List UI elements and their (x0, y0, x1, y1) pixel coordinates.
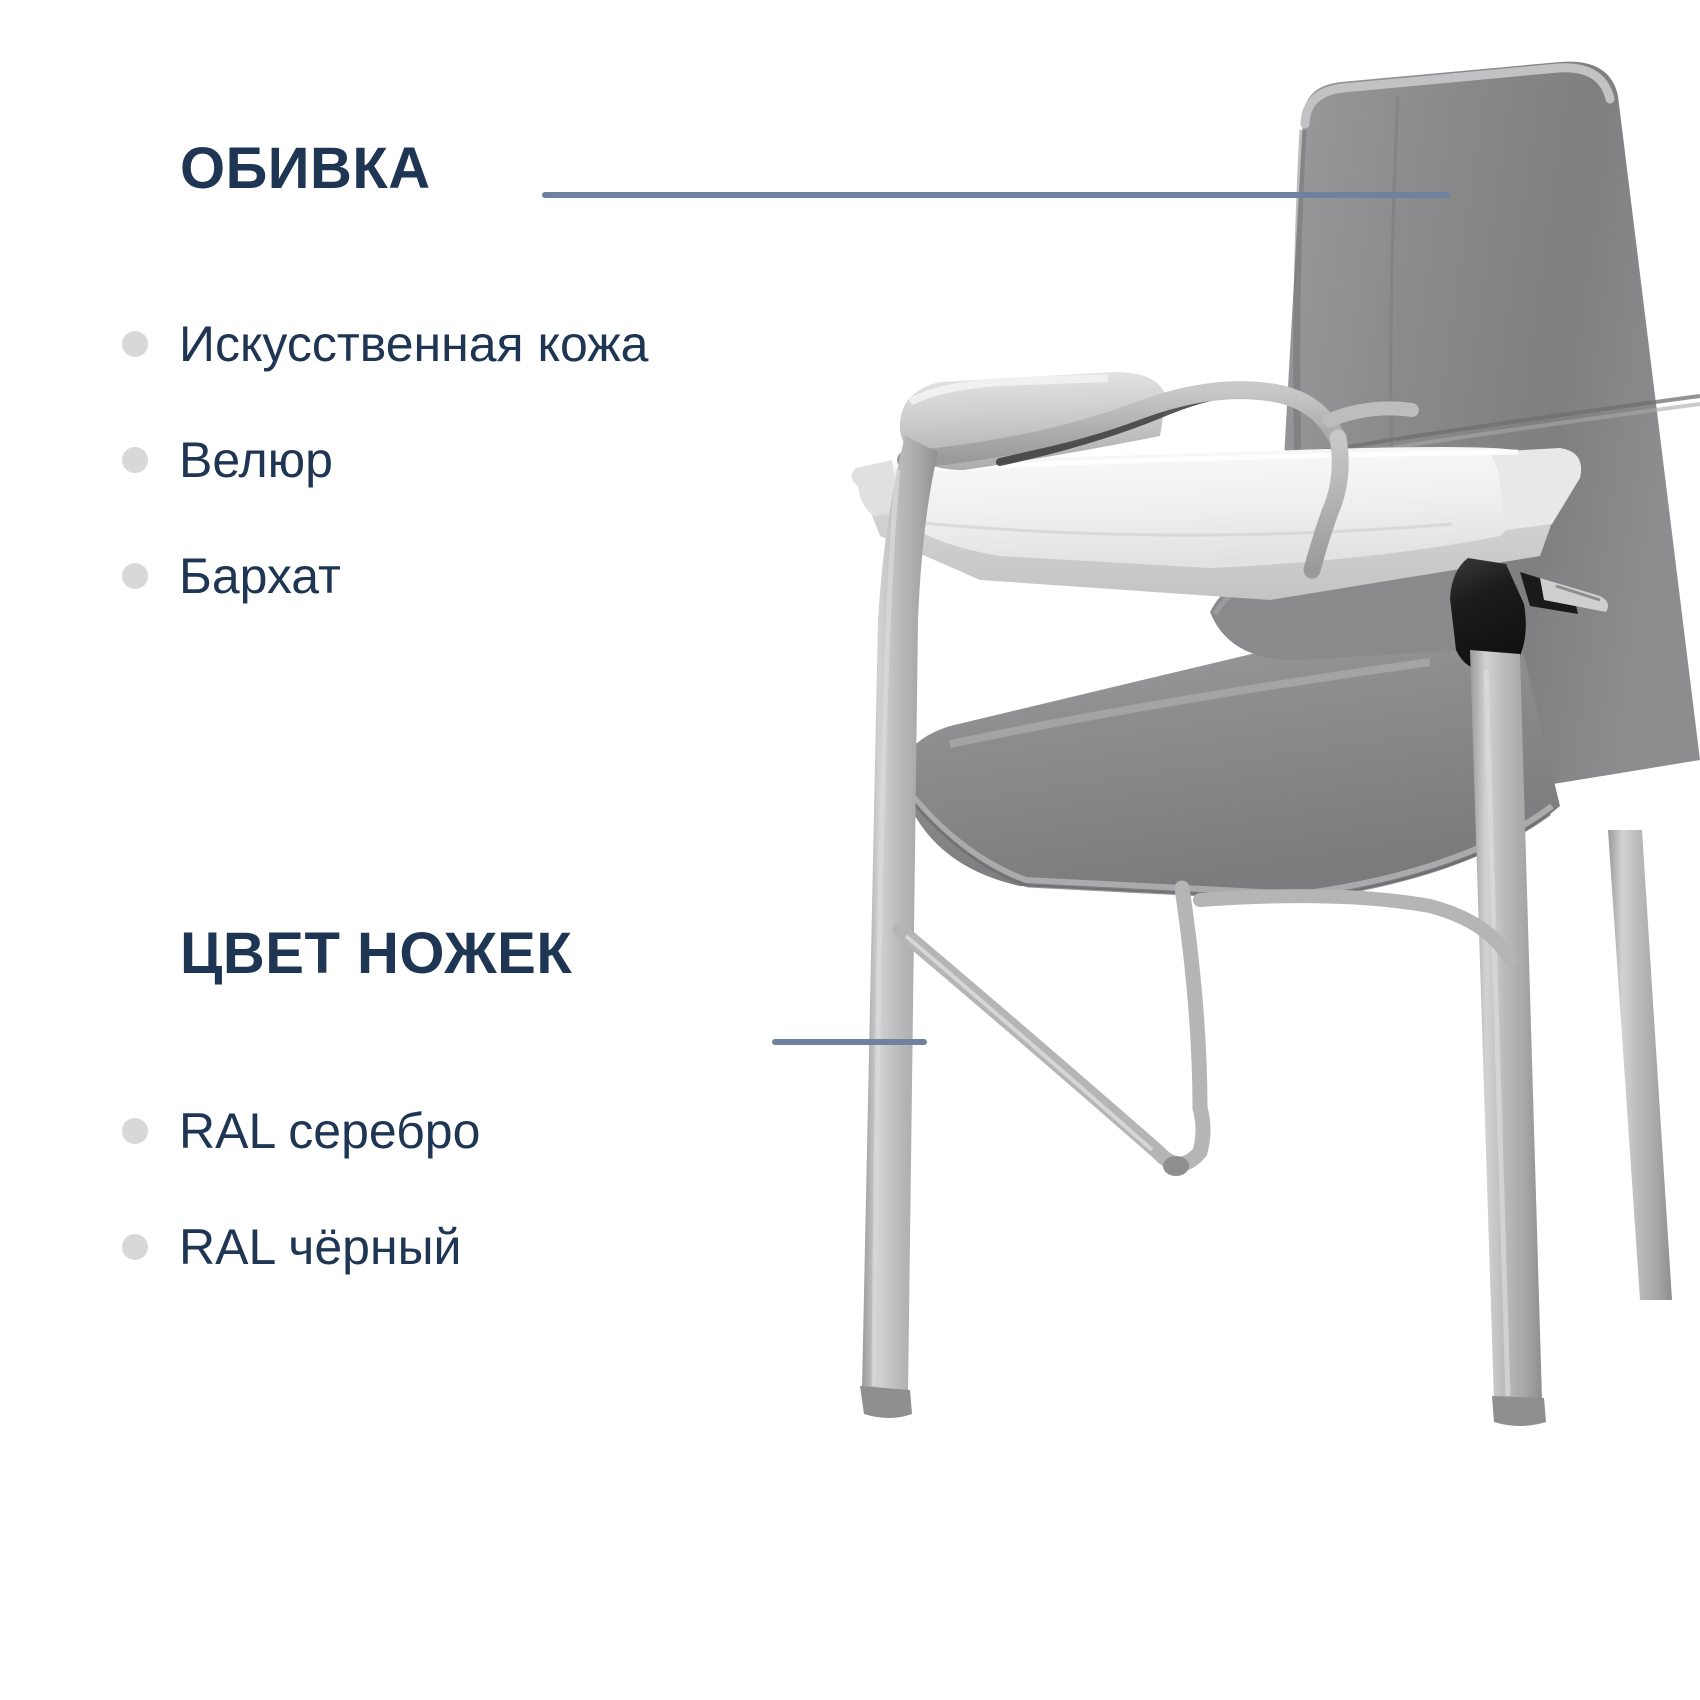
chair-arm-frame (906, 390, 1412, 570)
chair-armrest (900, 372, 1252, 470)
chair-seat-cushion (902, 560, 1560, 900)
spec-item-label: Бархат (179, 551, 341, 601)
spec-section-upholstery: ОБИВКА Искусственная кожа Велюр Бархат (180, 140, 648, 634)
spec-section-leg-color: ЦВЕТ НОЖЕК RAL серебро RAL чёрный (180, 925, 572, 1305)
list-item: Искусственная кожа (122, 286, 648, 402)
spec-item-label: Велюр (179, 435, 333, 485)
tablet-pivot-bracket (1450, 558, 1608, 672)
spec-item-label: RAL чёрный (179, 1222, 461, 1272)
chair-front-left-leg (860, 436, 938, 1418)
spec-item-label: Искусственная кожа (179, 319, 648, 369)
infographic-page: ОБИВКА Искусственная кожа Велюр Бархат Ц… (0, 0, 1700, 1700)
list-item: Велюр (122, 402, 648, 518)
chair-backrest (1272, 62, 1700, 800)
list-item: Бархат (122, 518, 648, 634)
bullet-dot-icon (122, 1118, 148, 1144)
leader-line-upholstery (542, 192, 1450, 198)
leader-line-leg-color (772, 1039, 927, 1045)
spec-list-upholstery: Искусственная кожа Велюр Бархат (180, 286, 648, 634)
writing-tablet (851, 447, 1581, 600)
chair-rear-right-leg (1470, 650, 1546, 1426)
spec-heading-leg-color: ЦВЕТ НОЖЕК (180, 925, 572, 983)
list-item: RAL серебро (122, 1073, 572, 1189)
chair-under-frame-wire (900, 888, 1510, 1176)
spec-heading-upholstery: ОБИВКА (180, 140, 648, 198)
spec-item-label: RAL серебро (179, 1106, 480, 1156)
chair-rear-leg-right (1608, 830, 1672, 1300)
bullet-dot-icon (122, 1234, 148, 1260)
bullet-dot-icon (122, 563, 148, 589)
bullet-dot-icon (122, 331, 148, 357)
list-item: RAL чёрный (122, 1189, 572, 1305)
spec-list-leg-color: RAL серебро RAL чёрный (180, 1073, 572, 1305)
bullet-dot-icon (122, 447, 148, 473)
